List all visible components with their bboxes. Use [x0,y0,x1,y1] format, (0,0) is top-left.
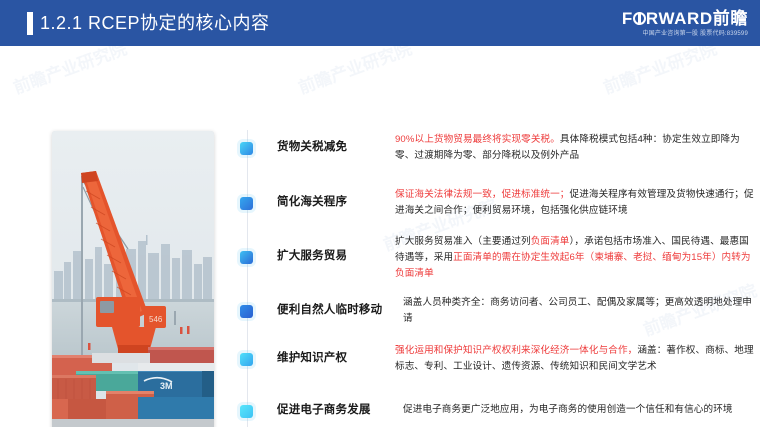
content-row: 扩大服务贸易 扩大服务贸易准入（主要通过列负面清单），承诺包括市场准入、国民待遇… [240,234,756,282]
row-text: 保证海关法律法规一致，促进标准统一；促进海关程序有效管理及货物快速通行；促进海关… [395,187,756,219]
slide-root: 1.2.1 RCEP协定的核心内容 FRWARD前瞻 中国产业咨询第一股 股票代… [0,0,760,427]
page-title: 1.2.1 RCEP协定的核心内容 [40,11,270,35]
row-text: 90%以上货物贸易最终将实现零关税。具体降税模式包括4种：协定生效立即降为零、过… [395,132,756,164]
row-text: 扩大服务贸易准入（主要通过列负面清单），承诺包括市场准入、国民待遇、最惠国待遇等… [395,234,756,282]
brand-logo: FRWARD前瞻 中国产业咨询第一股 股票代码:839599 [622,9,748,39]
content-row: 便利自然人临时移动 涵盖人员种类齐全：商务访问者、公司员工、配偶及家属等；更高效… [240,295,756,327]
highlighted-text: 90%以上货物贸易最终将实现零关税。 [395,134,560,145]
row-label: 货物关税减免 [277,139,389,155]
content-row: 简化海关程序 保证海关法律法规一致，促进标准统一；促进海关程序有效管理及货物快速… [240,187,756,219]
header-accent-bar [27,12,33,35]
brand-logo-cn: 前瞻 [713,9,748,28]
highlighted-text: 强化运用和保护知识产权权利来深化经济一体化与合作， [395,345,637,356]
slide-header: 1.2.1 RCEP协定的核心内容 FRWARD前瞻 中国产业咨询第一股 股票代… [0,0,760,46]
row-label: 扩大服务贸易 [277,248,389,264]
brand-logo-o-icon [633,12,646,25]
content-row: 维护知识产权 强化运用和保护知识产权权利来深化经济一体化与合作，涵盖：著作权、商… [240,343,756,375]
row-text: 涵盖人员种类齐全：商务访问者、公司员工、配偶及家属等；更高效透明地处理申请 [403,295,756,327]
row-label: 简化海关程序 [277,194,389,210]
port-crane-photo: 546 [52,131,214,427]
row-label: 便利自然人临时移动 [277,302,397,318]
svg-text:546: 546 [149,315,163,324]
plain-text: 扩大服务贸易准入（主要通过列 [395,236,531,247]
bullet-square-icon [240,251,253,264]
content-row: 货物关税减免 90%以上货物贸易最终将实现零关税。具体降税模式包括4种：协定生效… [240,132,756,164]
plain-text: 涵盖人员种类齐全：商务访问者、公司员工、配偶及家属等；更高效透明地处理申请 [403,297,752,324]
brand-logo-main: FRWARD前瞻 [622,9,748,28]
row-text: 促进电子商务更广泛地应用，为电子商务的使用创造一个信任和有信心的环境 [403,402,756,418]
bullet-square-icon [240,305,253,318]
bullet-square-icon [240,197,253,210]
slide-body: 前瞻产业研究院 前瞻产业研究院 前瞻产业研究院 前瞻产业研究院 前瞻产业研究院 … [0,46,760,427]
bullet-square-icon [240,353,253,366]
bullet-square-icon [240,142,253,155]
brand-logo-subtitle: 中国产业咨询第一股 股票代码:839599 [622,30,748,39]
brand-logo-rest: RWARD [646,9,713,28]
port-crane-photo-graphic: 546 [52,131,214,427]
svg-text:3M: 3M [160,381,173,391]
row-text: 强化运用和保护知识产权权利来深化经济一体化与合作，涵盖：著作权、商标、地理标志、… [395,343,756,375]
row-label: 维护知识产权 [277,350,389,366]
plain-text: 促进电子商务更广泛地应用，为电子商务的使用创造一个信任和有信心的环境 [403,404,733,415]
content-row: 促进电子商务发展 促进电子商务更广泛地应用，为电子商务的使用创造一个信任和有信心… [240,402,756,418]
highlighted-text: 保证海关法律法规一致，促进标准统一； [395,189,570,200]
brand-logo-f: F [622,9,633,28]
row-label: 促进电子商务发展 [277,402,397,418]
bullet-square-icon [240,405,253,418]
highlighted-text: 负面清单 [531,236,570,247]
